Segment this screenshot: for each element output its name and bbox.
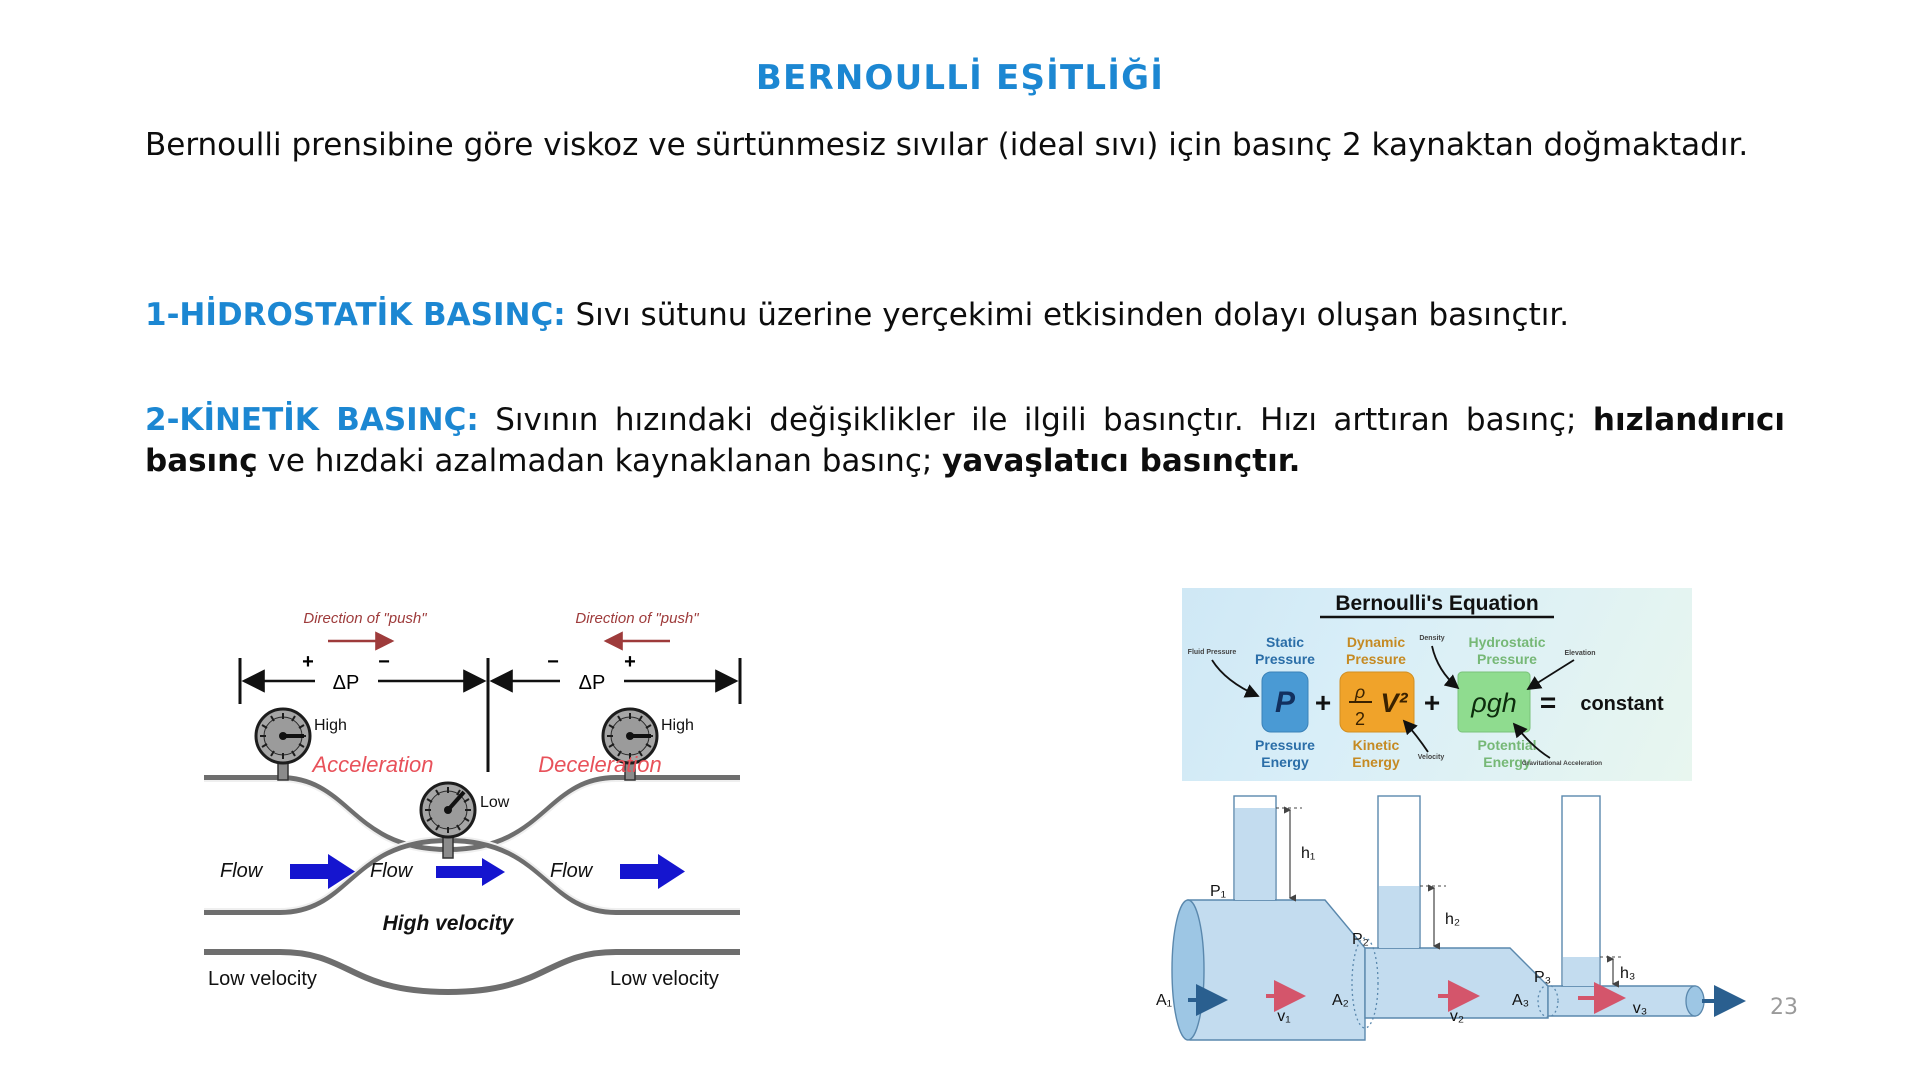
flow-label-right: Flow xyxy=(550,860,594,882)
pipe-manometer-diagram: h₁ P₁ h₂ P₂ h₃ P₃ A₁ v₁ A₂ v₂ A₃ v₃ xyxy=(1150,790,1770,1075)
term2-callout-label: Velocity xyxy=(1418,754,1445,761)
flow-label-mid: Flow xyxy=(370,860,414,882)
gauge-left-label: High xyxy=(314,717,347,734)
p2-label: P₂ xyxy=(1352,931,1369,948)
kinetik-body-1: Sıvının hızındaki değişiklikler ile ilgi… xyxy=(479,402,1593,438)
kinetik-body-2: ve hızdaki azalmadan kaynaklanan basınç; xyxy=(258,443,943,479)
gauge-left xyxy=(256,709,310,780)
term1-callout-arrow-icon xyxy=(1212,660,1258,696)
term3-top-line2: Pressure xyxy=(1477,651,1537,667)
paragraph-hidrostatik: 1-HİDROSTATİK BASINÇ: Sıvı sütunu üzerin… xyxy=(145,295,1785,336)
term2-top-line1: Dynamic xyxy=(1347,634,1406,650)
paragraph-kinetik: 2-KİNETİK BASINÇ: Sıvının hızındaki deği… xyxy=(145,400,1785,482)
gauge-right-label: High xyxy=(661,717,694,734)
page-title: BERNOULLİ EŞİTLİĞİ xyxy=(0,58,1920,98)
venturi-diagram: Direction of "push" Direction of "push" … xyxy=(200,600,890,1020)
low-velocity-label-right: Low velocity xyxy=(610,968,719,990)
push-label-left: Direction of "push" xyxy=(303,610,427,627)
gauge-middle-label: Low xyxy=(480,794,510,811)
flow-arrow-right-icon xyxy=(620,854,685,889)
a2-label: A₂ xyxy=(1332,992,1349,1009)
manometer-3-fluid xyxy=(1563,957,1599,986)
kinetik-heading: 2-KİNETİK BASINÇ: xyxy=(145,402,479,438)
term3-symbol: ρgh xyxy=(1470,688,1517,718)
term3-callout-density-label: Density xyxy=(1419,635,1444,642)
term1-bottom-line2: Energy xyxy=(1261,754,1309,770)
term1-bottom-line1: Pressure xyxy=(1255,737,1315,753)
term1-top-line2: Pressure xyxy=(1255,651,1315,667)
paragraph-intro-text: Bernoulli prensibine göre viskoz ve sürt… xyxy=(145,127,1748,163)
kinetik-bold-2: yavaşlatıcı basınçtır. xyxy=(942,443,1300,479)
term1-symbol: P xyxy=(1275,686,1296,719)
pipe-inlet-cap xyxy=(1172,900,1204,1040)
p3-label: P₃ xyxy=(1534,969,1551,986)
p1-label: P₁ xyxy=(1210,883,1226,900)
h1-label: h₁ xyxy=(1301,845,1315,862)
term3-callout-density-arrow-icon xyxy=(1432,646,1458,688)
deltap-right-label: ΔP xyxy=(579,672,606,694)
h3-label: h₃ xyxy=(1620,965,1635,982)
page-number: 23 xyxy=(1770,995,1798,1020)
term3-callout-gravity-label: Gravitational Acceleration xyxy=(1522,760,1602,767)
equals-sign: = xyxy=(1540,687,1556,718)
deltap-left-label: ΔP xyxy=(333,672,360,694)
plus-sign-1: + xyxy=(1315,687,1331,718)
paragraph-intro: Bernoulli prensibine göre viskoz ve sürt… xyxy=(145,125,1785,166)
term1-top-line1: Static xyxy=(1266,634,1304,650)
flow-arrow-mid-icon xyxy=(436,858,505,886)
sign-right-minus: − xyxy=(547,651,559,673)
v3-label: v₃ xyxy=(1633,1000,1648,1017)
term2-bottom-line2: Energy xyxy=(1352,754,1400,770)
sign-right-plus: + xyxy=(624,651,636,673)
manometer-1-fluid xyxy=(1235,808,1275,900)
term3-top-line1: Hydrostatic xyxy=(1468,634,1545,650)
h2-label: h₂ xyxy=(1445,911,1460,928)
flow-label-left: Flow xyxy=(220,860,264,882)
sign-left-plus: + xyxy=(302,651,314,673)
low-velocity-label-left: Low velocity xyxy=(208,968,317,990)
v2-label: v₂ xyxy=(1450,1008,1464,1025)
term3-callout-elevation-label: Elevation xyxy=(1564,650,1595,657)
deceleration-label: Deceleration xyxy=(538,752,662,777)
term2-bottom-line1: Kinetic xyxy=(1353,737,1400,753)
hidrostatik-heading: 1-HİDROSTATİK BASINÇ: xyxy=(145,297,566,333)
v1-label: v₁ xyxy=(1277,1008,1290,1025)
pipe-section-3 xyxy=(1548,986,1695,1016)
sign-left-minus: − xyxy=(378,651,390,673)
pipe-outlet-cap xyxy=(1686,986,1704,1016)
plus-sign-2: + xyxy=(1424,687,1440,718)
hidrostatik-body: Sıvı sütunu üzerine yerçekimi etkisinden… xyxy=(566,297,1570,333)
constant-label: constant xyxy=(1580,693,1664,715)
push-label-right: Direction of "push" xyxy=(575,610,699,627)
bernoulli-equation-card: Bernoulli's Equation Static Pressure P P… xyxy=(1182,588,1692,781)
term2-callout-arrow-icon xyxy=(1404,721,1428,752)
a1-label: A₁ xyxy=(1156,992,1172,1009)
term1-callout-label: Fluid Pressure xyxy=(1188,649,1237,656)
term2-denominator: 2 xyxy=(1355,709,1365,729)
equation-title: Bernoulli's Equation xyxy=(1335,592,1538,615)
term2-top-line2: Pressure xyxy=(1346,651,1406,667)
acceleration-label: Acceleration xyxy=(310,752,433,777)
manometer-2-fluid xyxy=(1379,886,1419,948)
a3-label: A₃ xyxy=(1512,992,1529,1009)
high-velocity-label: High velocity xyxy=(383,912,515,935)
term2-numerator: ρ xyxy=(1354,682,1365,702)
term2-symbol: V² xyxy=(1381,688,1409,718)
